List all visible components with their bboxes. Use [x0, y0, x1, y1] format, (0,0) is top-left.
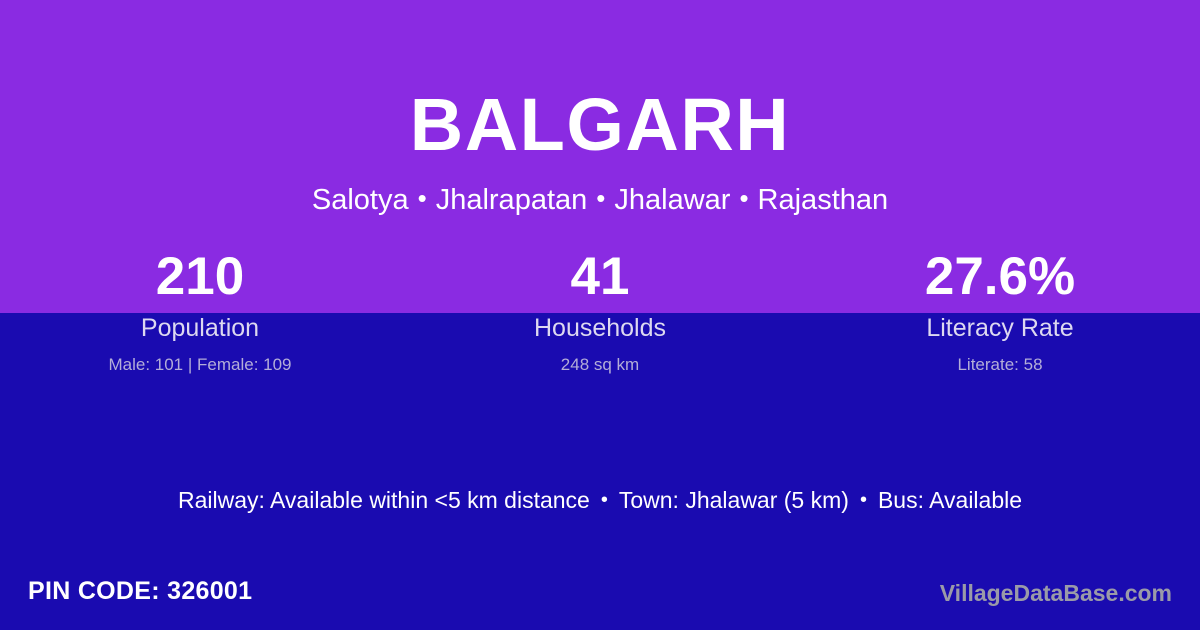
- stat-value: 210: [0, 246, 400, 308]
- page-title: BALGARH: [0, 82, 1200, 168]
- breadcrumb-part-district: Jhalawar: [614, 184, 730, 216]
- stat-sublabel: Male: 101 | Female: 109: [0, 353, 400, 377]
- stat-sublabel: 248 sq km: [400, 353, 800, 377]
- breadcrumb-part-village: Salotya: [312, 184, 409, 216]
- stat-literacy-rate: 27.6% Literacy Rate Literate: 58: [800, 246, 1200, 377]
- amenities-line: Railway: Available within <5 km distance…: [0, 485, 1200, 517]
- stat-value: 27.6%: [800, 246, 1200, 308]
- village-info-card: BALGARH Salotya•Jhalrapatan•Jhalawar•Raj…: [0, 0, 1200, 630]
- breadcrumb-part-state: Rajasthan: [758, 184, 889, 216]
- amenity-railway: Railway: Available within <5 km distance: [178, 487, 590, 513]
- breadcrumb-separator-icon: •: [587, 183, 614, 213]
- stat-label: Households: [400, 312, 800, 344]
- breadcrumb-separator-icon: •: [409, 183, 436, 213]
- stat-sublabel: Literate: 58: [800, 353, 1200, 377]
- pin-code: PIN CODE: 326001: [28, 575, 252, 607]
- site-brand: VillageDataBase.com: [940, 578, 1172, 608]
- stat-households: 41 Households 248 sq km: [400, 246, 800, 377]
- amenity-separator-icon: •: [590, 489, 619, 511]
- stat-population: 210 Population Male: 101 | Female: 109: [0, 246, 400, 377]
- breadcrumb-separator-icon: •: [730, 183, 757, 213]
- amenity-bus: Bus: Available: [878, 487, 1022, 513]
- amenity-separator-icon: •: [849, 489, 878, 511]
- stat-label: Population: [0, 312, 400, 344]
- amenity-town: Town: Jhalawar (5 km): [619, 487, 849, 513]
- stats-row: 210 Population Male: 101 | Female: 109 4…: [0, 246, 1200, 377]
- stat-value: 41: [400, 246, 800, 308]
- stat-label: Literacy Rate: [800, 312, 1200, 344]
- breadcrumb-part-subdistrict: Jhalrapatan: [436, 184, 588, 216]
- location-breadcrumb: Salotya•Jhalrapatan•Jhalawar•Rajasthan: [0, 182, 1200, 218]
